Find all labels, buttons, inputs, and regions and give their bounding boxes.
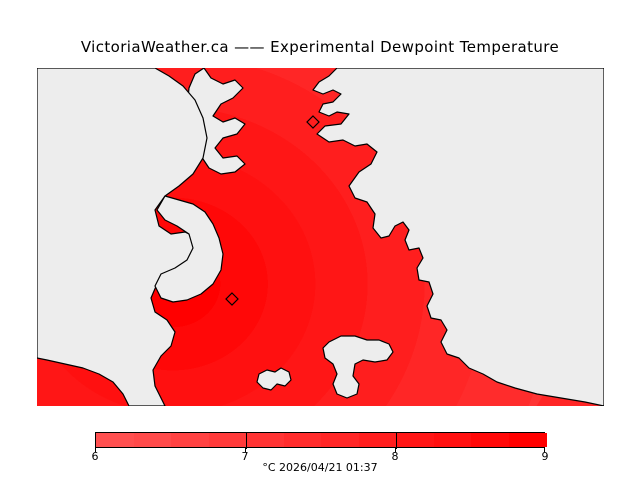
colorbar-band-0 xyxy=(96,433,134,447)
colorbar-band-7 xyxy=(359,433,397,447)
colorbar-band-4 xyxy=(246,433,284,447)
colorbar-tick-label-8: 8 xyxy=(392,450,399,463)
colorbar-tick-line-8 xyxy=(396,433,397,449)
colorbar-tick-label-7: 7 xyxy=(242,450,249,463)
colorbar-band-2 xyxy=(171,433,209,447)
colorbar-tick-label-9: 9 xyxy=(542,450,549,463)
map-panel[interactable] xyxy=(37,68,604,406)
colorbar-gradient xyxy=(95,432,545,448)
weather-map-page: VictoriaWeather.ca —— Experimental Dewpo… xyxy=(0,0,640,480)
colorbar-band-10 xyxy=(471,433,509,447)
colorbar-tick-line-7 xyxy=(246,433,247,449)
colorbar-tick-label-6: 6 xyxy=(92,450,99,463)
colorbar-band-5 xyxy=(284,433,322,447)
colorbar-band-3 xyxy=(209,433,247,447)
colorbar-band-9 xyxy=(434,433,472,447)
colorbar-band-11 xyxy=(509,433,547,447)
colorbar xyxy=(95,432,545,448)
colorbar-band-8 xyxy=(396,433,434,447)
colorbar-band-1 xyxy=(134,433,172,447)
page-title: VictoriaWeather.ca —— Experimental Dewpo… xyxy=(0,38,640,56)
map-canvas[interactable] xyxy=(37,68,604,406)
colorbar-band-6 xyxy=(321,433,359,447)
